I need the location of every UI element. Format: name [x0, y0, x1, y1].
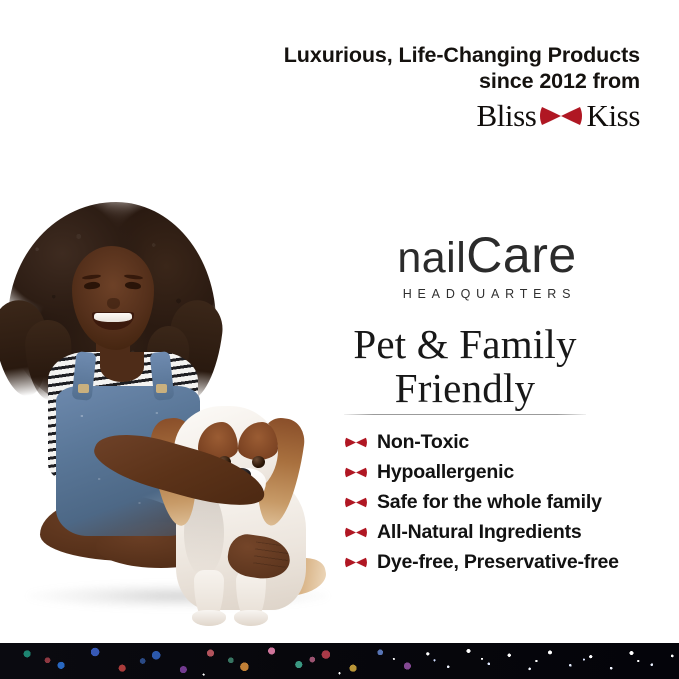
tagline-line-1: Luxurious, Life-Changing Products: [220, 42, 640, 68]
header-tagline-block: Luxurious, Life-Changing Products since …: [220, 42, 640, 132]
tagline-line-2: since 2012 from: [220, 68, 640, 94]
dog-paw: [234, 610, 268, 626]
double-lips-bullet-icon: [344, 466, 368, 479]
brand-word-kiss: Kiss: [586, 99, 640, 132]
headline-line-1: Pet & Family: [318, 322, 612, 366]
feature-label: Safe for the whole family: [377, 491, 602, 513]
feature-label: Dye-free, Preservative-free: [377, 551, 619, 573]
nailcare-headquarters-logo: nailCare HEADQUARTERS: [372, 232, 602, 301]
girl-teeth: [94, 313, 132, 322]
brand-word-bliss: Bliss: [476, 99, 536, 132]
overall-strap: [72, 351, 97, 401]
nailcare-word-care: Care: [466, 227, 576, 283]
feature-list: Non-Toxic Hypoallergenic: [344, 427, 674, 577]
girl-nose: [107, 298, 120, 309]
bliss-kiss-logo: Bliss Kiss: [220, 99, 640, 132]
nailcare-word-nail: nail: [397, 234, 466, 282]
feature-label: All-Natural Ingredients: [377, 521, 582, 543]
dog-eye: [252, 456, 265, 468]
girl-eye: [84, 281, 101, 290]
list-item: All-Natural Ingredients: [344, 517, 674, 547]
double-lips-bullet-icon: [344, 436, 368, 449]
girl-and-dog-photo: [0, 150, 350, 645]
nailcare-wordmark: nailCare: [372, 232, 602, 281]
double-lips-icon: [538, 105, 584, 127]
list-item: Non-Toxic: [344, 427, 674, 457]
girl-smile: [92, 312, 134, 330]
list-item: Safe for the whole family: [344, 487, 674, 517]
dog-paw: [192, 610, 226, 626]
headline: Pet & Family Friendly: [318, 322, 612, 410]
list-item: Dye-free, Preservative-free: [344, 547, 674, 577]
double-lips-bullet-icon: [344, 526, 368, 539]
dog-cavalier-spaniel: [150, 384, 340, 634]
girl-eye: [125, 281, 142, 290]
headline-divider: [344, 414, 586, 415]
girl-eyebrow: [82, 274, 101, 280]
list-item: Hypoallergenic: [344, 457, 674, 487]
girl-eyebrow: [124, 274, 143, 280]
double-lips-bullet-icon: [344, 496, 368, 509]
advertisement-banner: Luxurious, Life-Changing Products since …: [0, 0, 679, 679]
double-lips-bullet-icon: [344, 556, 368, 569]
glitter-border-strip: [0, 643, 679, 679]
dog-head-marking: [238, 422, 278, 460]
feature-label: Hypoallergenic: [377, 461, 514, 483]
feature-label: Non-Toxic: [377, 431, 469, 453]
headline-line-2: Friendly: [318, 366, 612, 410]
overall-buckle: [78, 384, 89, 393]
nailcare-subtitle: HEADQUARTERS: [377, 287, 602, 301]
shirt-collar: [100, 352, 144, 382]
